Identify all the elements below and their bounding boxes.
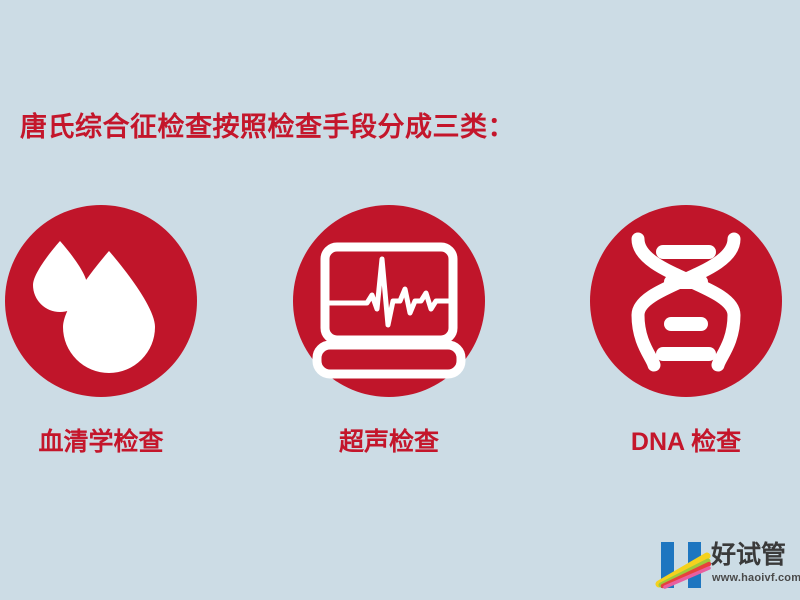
caption-dna: DNA 检查 — [590, 425, 782, 459]
category-item-dna[interactable] — [590, 205, 786, 401]
caption-serology: 血清学检查 — [5, 425, 197, 459]
watermark-text: 好试管 www.haoivf.com — [711, 538, 797, 592]
icon-circle — [5, 205, 197, 397]
watermark-brand: 好试管 — [711, 540, 786, 570]
icon-circle — [590, 205, 782, 397]
dna-helix-icon — [590, 205, 782, 397]
page-title: 唐氏综合征检查按照检查手段分成三类： — [20, 108, 780, 146]
caption-ultrasound: 超声检查 — [293, 425, 485, 459]
watermark-url: www.haoivf.com — [712, 571, 800, 585]
slide-canvas: 唐氏综合征检查按照检查手段分成三类： — [0, 0, 800, 600]
icon-circle — [293, 205, 485, 397]
ultrasound-monitor-ecg-icon — [293, 205, 485, 397]
blood-drops-icon — [5, 205, 197, 397]
icon-row — [0, 205, 800, 405]
watermark: 好试管 www.haoivf.com — [655, 538, 795, 594]
category-item-serology[interactable] — [5, 205, 201, 401]
category-item-ultrasound[interactable] — [293, 205, 489, 401]
caption-row: 血清学检查 超声检查 DNA 检查 — [0, 425, 800, 471]
haoivf-h-logo-icon — [655, 540, 711, 590]
